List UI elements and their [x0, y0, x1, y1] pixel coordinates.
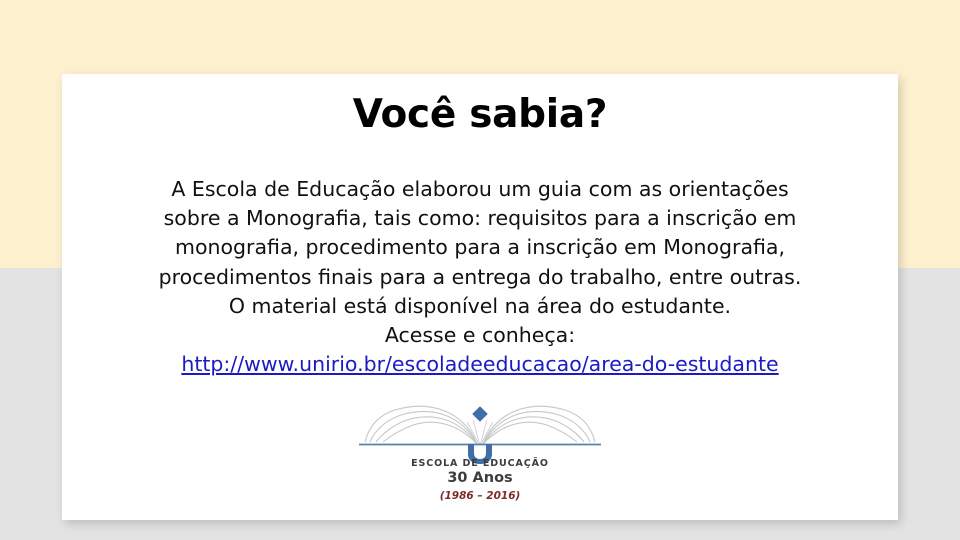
logo-year-range: (1986 – 2016) [355, 489, 605, 503]
logo-text-block: ESCOLA DE EDUCAÇÃO 30 Anos (1986 – 2016) [355, 458, 605, 503]
body-line-1: A Escola de Educação elaborou um guia co… [80, 175, 880, 204]
logo-school-name: ESCOLA DE EDUCAÇÃO [355, 458, 605, 470]
slide-root: Você sabia? A Escola de Educação elaboro… [0, 0, 960, 540]
body-line-3: monografia, procedimento para a inscriçã… [80, 233, 880, 262]
body-line-4: procedimentos finais para a entrega do t… [80, 263, 880, 292]
student-area-link[interactable]: http://www.unirio.br/escoladeeducacao/ar… [181, 352, 778, 376]
content-card: Você sabia? A Escola de Educação elaboro… [62, 74, 898, 520]
page-title: Você sabia? [62, 92, 898, 138]
school-logo: ESCOLA DE EDUCAÇÃO 30 Anos (1986 – 2016) [355, 394, 605, 504]
body-line-5: O material está disponível na área do es… [80, 292, 880, 321]
body-line-2: sobre a Monografia, tais como: requisito… [80, 204, 880, 233]
link-line: http://www.unirio.br/escoladeeducacao/ar… [80, 350, 880, 379]
body-text-block: A Escola de Educação elaborou um guia co… [80, 175, 880, 379]
logo-anniversary: 30 Anos [355, 470, 605, 487]
open-book-logo-icon [355, 394, 605, 466]
body-line-6: Acesse e conheça: [80, 321, 880, 350]
